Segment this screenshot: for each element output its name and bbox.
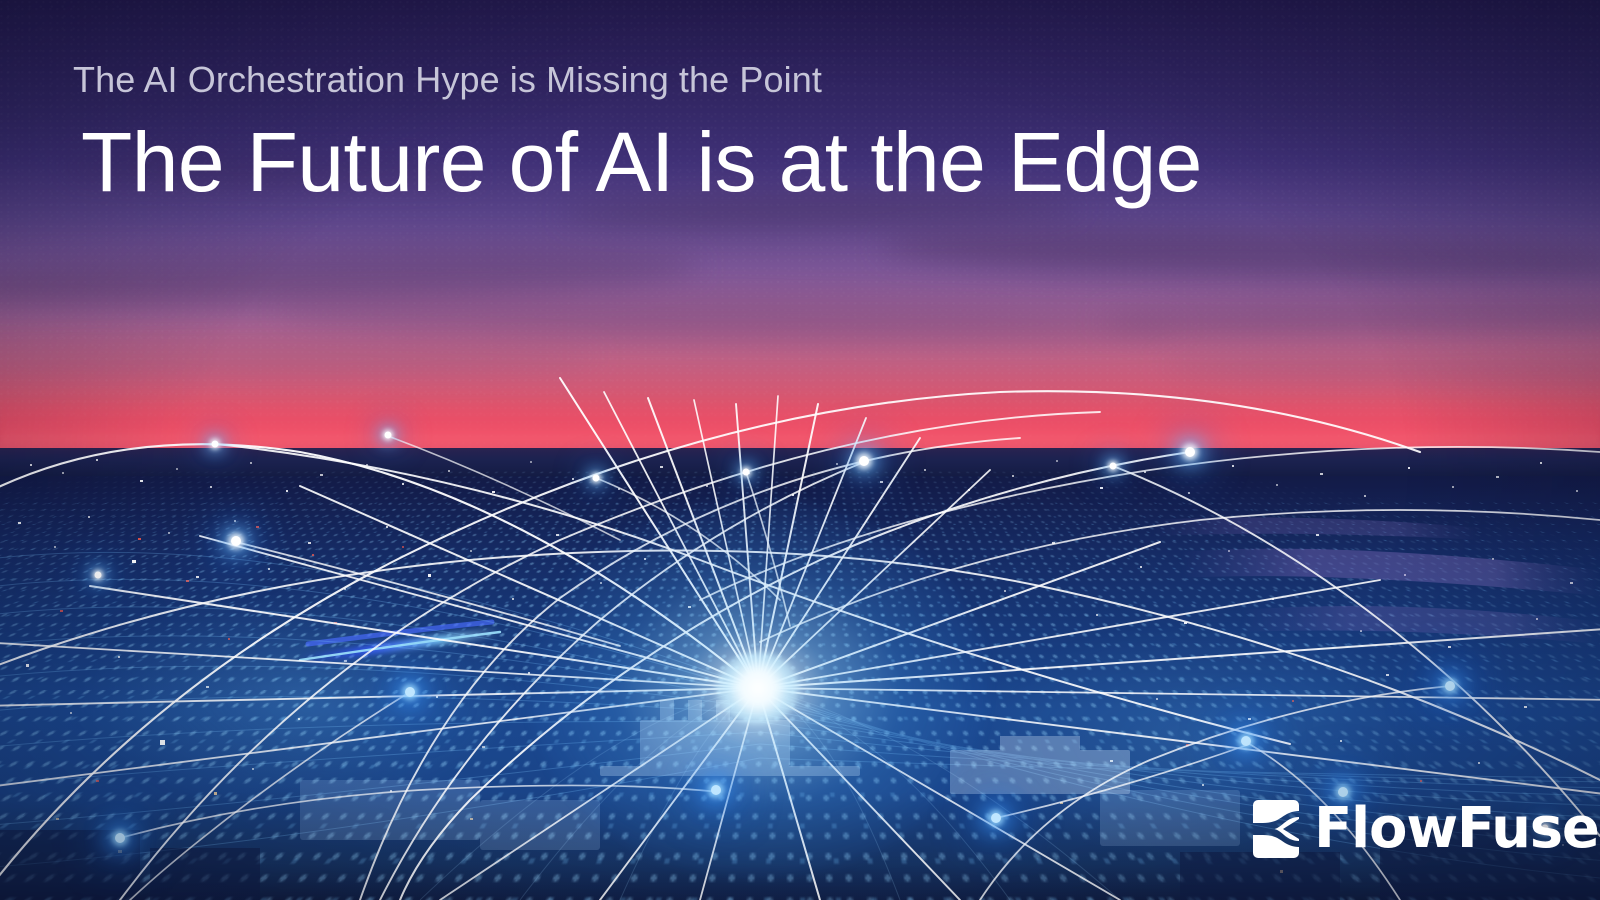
network-node [405, 687, 415, 697]
flowfuse-logo[interactable]: FlowFuse [1253, 800, 1599, 858]
network-node [385, 432, 392, 439]
network-node [593, 475, 600, 482]
network-node [859, 456, 869, 466]
network-node [1241, 736, 1251, 746]
network-node [115, 833, 125, 843]
network-node [711, 785, 721, 795]
hero-eyebrow: The AI Orchestration Hype is Missing the… [73, 62, 1202, 98]
flowfuse-logo-mark-icon [1253, 800, 1299, 858]
network-node [1110, 463, 1117, 470]
network-node [212, 441, 219, 448]
page-title: The Future of AI is at the Edge [81, 120, 1202, 204]
hero-text-block: The AI Orchestration Hype is Missing the… [73, 62, 1202, 204]
flowfuse-wordmark: FlowFuse [1314, 801, 1599, 857]
network-node [1185, 447, 1195, 457]
network-node [95, 572, 102, 579]
network-node [743, 469, 750, 476]
network-node [231, 536, 241, 546]
network-node [1445, 681, 1455, 691]
hero-banner: The AI Orchestration Hype is Missing the… [0, 0, 1600, 900]
network-node [991, 813, 1001, 823]
